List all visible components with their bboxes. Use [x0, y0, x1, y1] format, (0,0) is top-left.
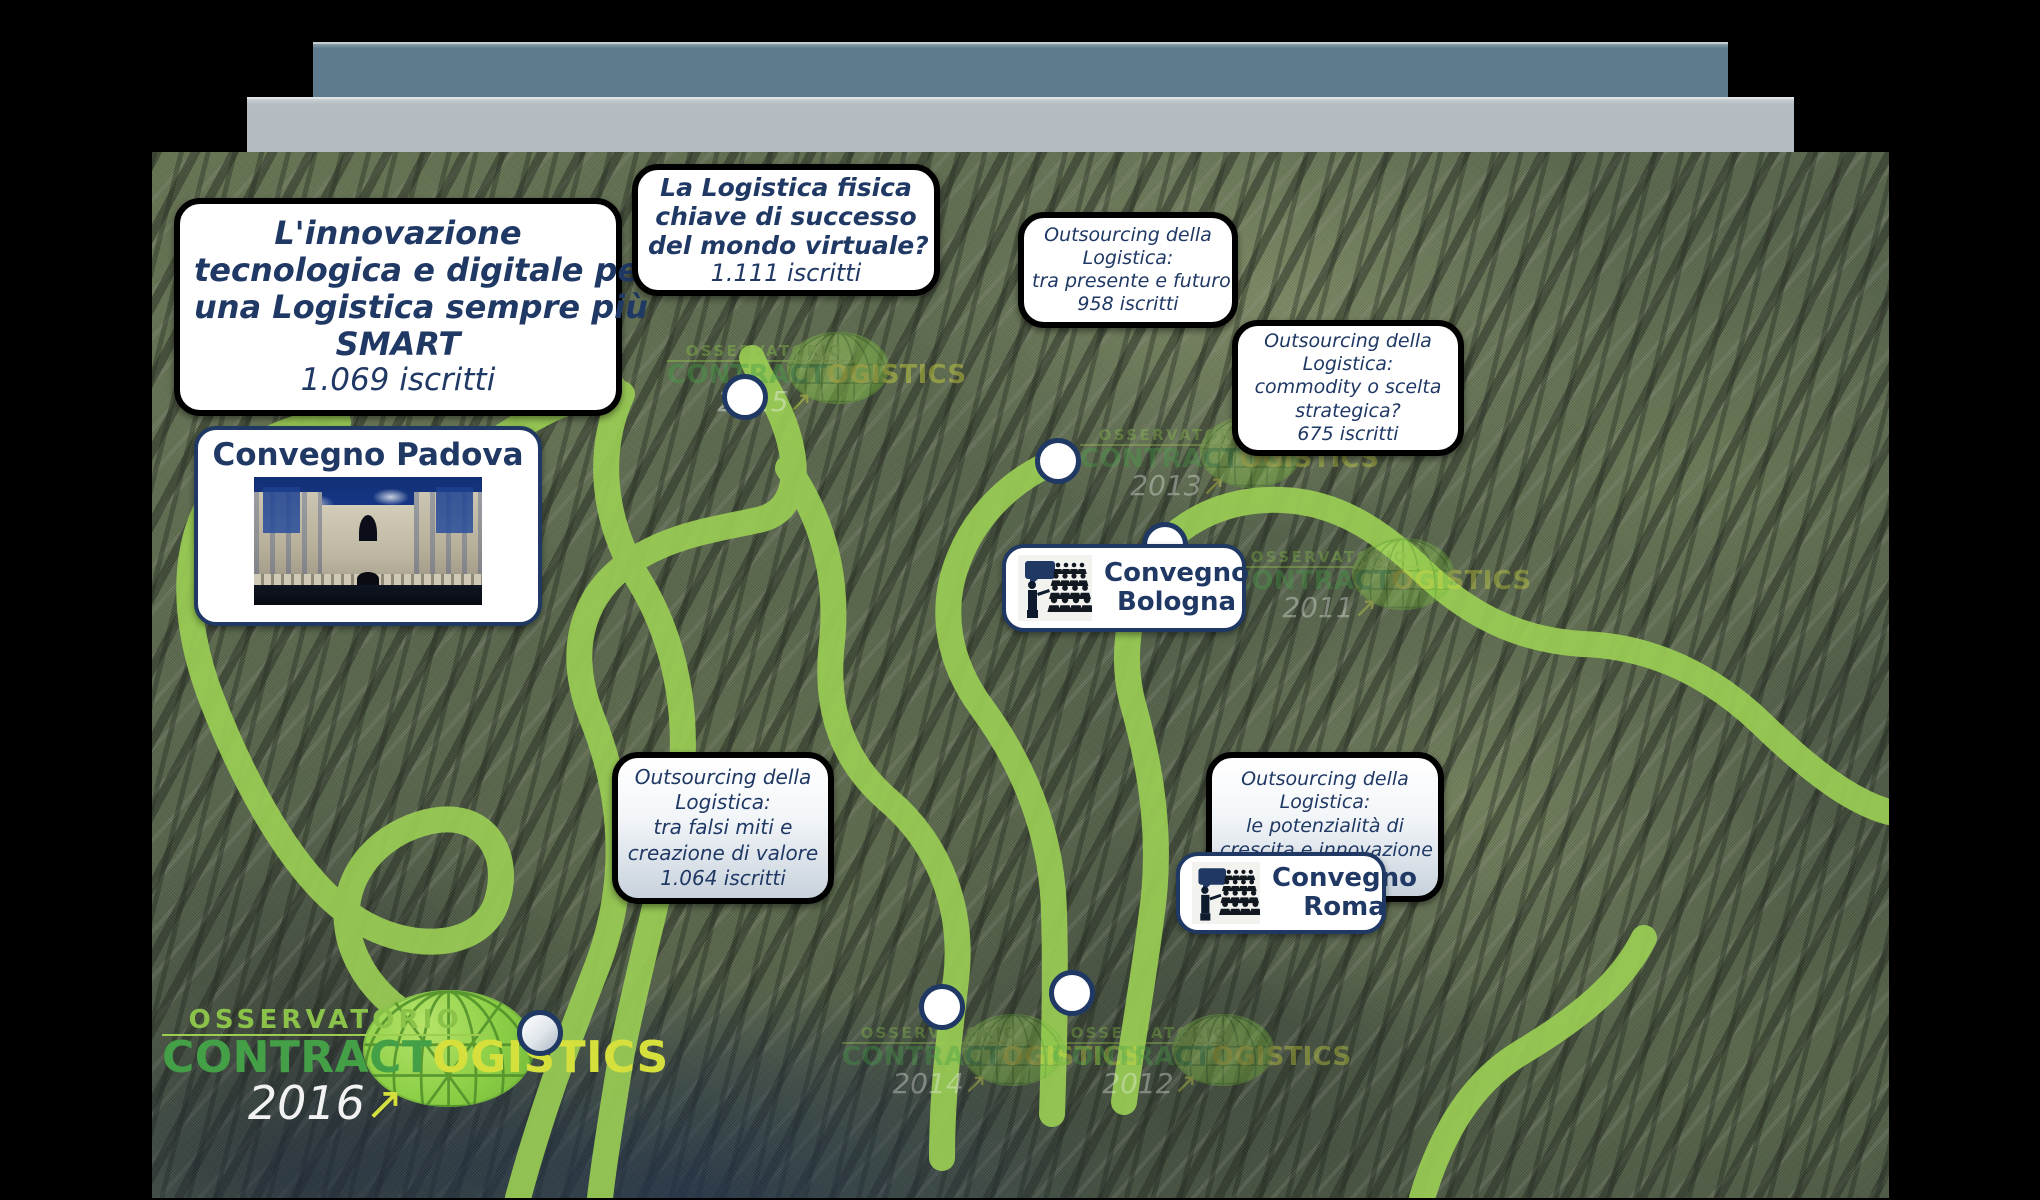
node-2012[interactable]: [1049, 970, 1095, 1016]
callout-convegno-bologna[interactable]: Convegno Bologna: [1002, 544, 1246, 632]
callout-convegno-padova[interactable]: Convegno Padova: [194, 426, 542, 626]
potenzialita-line-2: Logistica:: [1220, 791, 1430, 815]
falsimiti-line-3: tra falsi miti e: [626, 815, 820, 840]
fisica-line-3: del mondo virtuale?: [648, 231, 924, 260]
node-2016[interactable]: [517, 1010, 563, 1056]
audience-presentation-icon: [1018, 555, 1092, 621]
slide-stack-bar-top: [313, 42, 1728, 97]
slide-stack-bar-middle: [247, 97, 1794, 155]
callout-convegno-roma[interactable]: Convegno Roma: [1176, 852, 1386, 934]
commodity-line-2: Logistica:: [1246, 353, 1450, 376]
presente-count: 958 iscritti: [1032, 293, 1224, 316]
node-2015[interactable]: [722, 374, 768, 420]
padova-title: Convegno Padova: [208, 438, 528, 472]
route-lower-right: [1422, 938, 1644, 1198]
title-line-3: una Logistica sempre più: [194, 289, 602, 326]
falsimiti-line-2: Logistica:: [626, 790, 820, 815]
presente-line-3: tra presente e futuro: [1032, 270, 1224, 293]
callout-title[interactable]: L'innovazione tecnologica e digitale per…: [174, 198, 622, 416]
fisica-line-1: La Logistica fisica: [648, 173, 924, 202]
callout-outsourcing-falsi-miti[interactable]: Outsourcing della Logistica: tra falsi m…: [612, 752, 834, 904]
fisica-count: 1.111 iscritti: [648, 260, 924, 288]
commodity-line-4: strategica?: [1246, 400, 1450, 423]
commodity-line-1: Outsourcing della: [1246, 330, 1450, 353]
falsimiti-line-4: creazione di valore: [626, 841, 820, 866]
potenzialita-line-3: le potenzialità di: [1220, 815, 1430, 839]
title-line-2: tecnologica e digitale per: [194, 252, 602, 289]
title-line-4: SMART: [194, 326, 602, 363]
roma-label: Convegno Roma: [1272, 864, 1417, 922]
route-right-edge: [1582, 644, 1889, 812]
node-2013[interactable]: [1035, 438, 1081, 484]
falsimiti-count: 1.064 iscritti: [626, 866, 820, 891]
slide-content: OSSERVATORIO CONTRACTOGISTICS 2016↗: [152, 152, 1889, 1198]
presente-line-1: Outsourcing della: [1032, 224, 1224, 247]
node-2014[interactable]: [919, 984, 965, 1030]
callout-outsourcing-presente-futuro[interactable]: Outsourcing della Logistica: tra present…: [1018, 212, 1238, 328]
commodity-count: 675 iscritti: [1246, 423, 1450, 446]
padova-photo: [254, 477, 482, 605]
title-count: 1.069 iscritti: [194, 363, 602, 399]
callout-outsourcing-commodity[interactable]: Outsourcing della Logistica: commodity o…: [1232, 320, 1464, 456]
audience-presentation-icon: [1192, 862, 1260, 924]
falsimiti-line-1: Outsourcing della: [626, 765, 820, 790]
callout-logistica-fisica[interactable]: La Logistica fisica chiave di successo d…: [632, 164, 940, 296]
slide-canvas: OSSERVATORIO CONTRACTOGISTICS 2016↗: [0, 0, 2040, 1200]
title-line-1: L'innovazione: [194, 215, 602, 252]
bologna-label: Convegno Bologna: [1104, 559, 1249, 617]
presente-line-2: Logistica:: [1032, 247, 1224, 270]
fisica-line-2: chiave di successo: [648, 202, 924, 231]
potenzialita-line-1: Outsourcing della: [1220, 768, 1430, 792]
commodity-line-3: commodity o scelta: [1246, 376, 1450, 399]
